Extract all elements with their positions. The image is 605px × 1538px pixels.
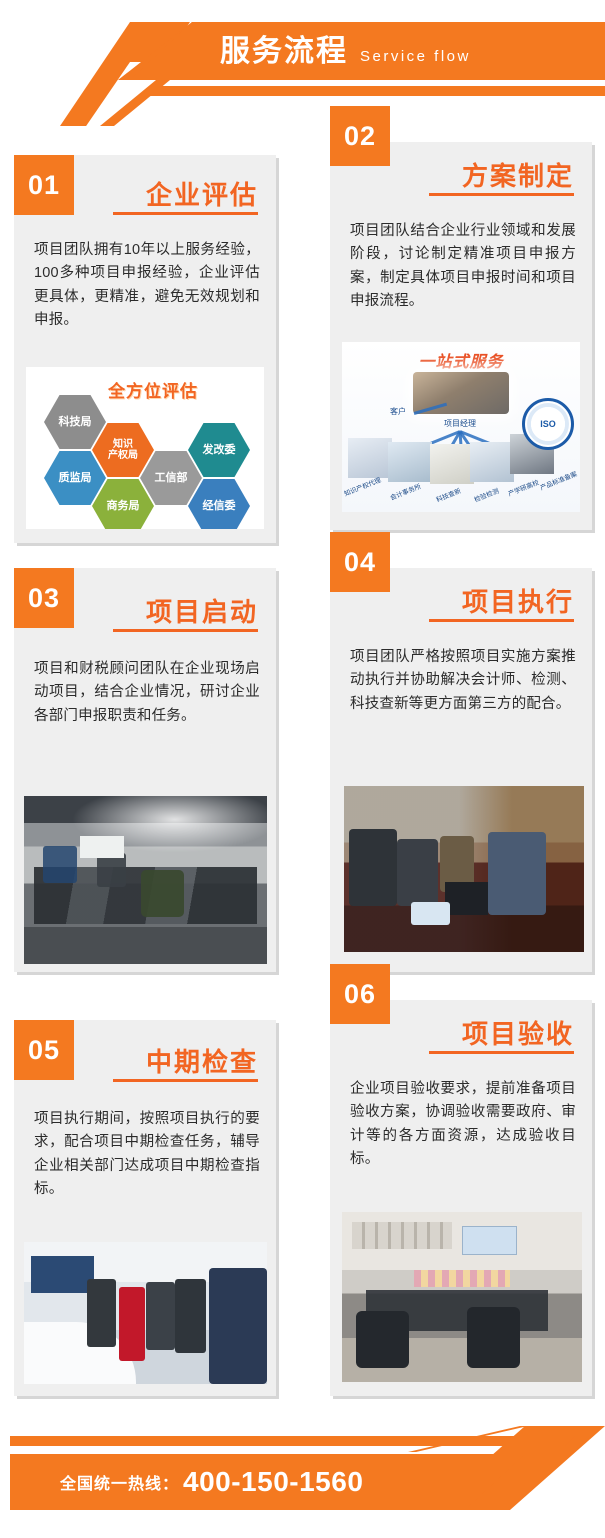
- hex-node-zhijian: 质监局: [44, 451, 106, 505]
- photo-person-red-coat-05: [119, 1287, 146, 1361]
- step-title-05: 中期检查: [146, 1042, 258, 1079]
- photo-person-03a: [43, 846, 77, 883]
- photo-chair-06b: [467, 1307, 520, 1368]
- photo-bag-04: [411, 902, 449, 925]
- step-card-03[interactable]: 项目启动 项目和财税顾问团队在企业现场启动项目，结合企业情况，研讨企业各部门申报…: [14, 568, 276, 972]
- photo-wall-screen-05: [31, 1256, 94, 1293]
- one-stop-thumb-2: [388, 442, 432, 482]
- step-body-06: 企业项目验收要求，提前准备项目验收方案，协调验收需要政府、审计等的各方面资源，达…: [350, 1078, 576, 1172]
- step-badge-06: 06: [330, 964, 390, 1024]
- header-stripe: [141, 86, 605, 96]
- one-stop-thumb-4: [470, 442, 514, 482]
- hotline-group: 全国统一热线： 400-150-1560: [60, 1454, 363, 1510]
- step-card-04[interactable]: 项目执行 项目团队严格按照项目实施方案推动执行并协助解决会计师、检测、科技查新等…: [330, 568, 592, 972]
- one-stop-label-customer: 客户: [390, 406, 406, 417]
- photo-chair-06a: [356, 1311, 409, 1369]
- page-title: 服务流程: [220, 30, 348, 74]
- figure-photo-03: [24, 796, 267, 964]
- photo-flowers-06: [414, 1270, 510, 1287]
- step-card-01[interactable]: 企业评估 项目团队拥有10年以上服务经验，100多种项目申报经验，企业评估更具体…: [14, 155, 276, 543]
- one-stop-thumb-1: [348, 438, 392, 478]
- step-title-rule-02: [429, 193, 574, 196]
- photo-person-04d: [488, 832, 546, 915]
- photo-certificates-wall-06: [352, 1222, 453, 1249]
- photo-person-05d: [209, 1268, 267, 1384]
- step-title-rule-01: [113, 212, 258, 215]
- photo-person-04a: [349, 829, 397, 905]
- photo-person-05b: [146, 1282, 175, 1350]
- photo-whiteboard-03: [80, 836, 124, 858]
- step-card-05[interactable]: 中期检查 项目执行期间，按照项目执行的要求，配合项目中期检查任务，辅导企业相关部…: [14, 1020, 276, 1396]
- figure-photo-05: [24, 1242, 267, 1384]
- one-stop-label-manager: 项目经理: [444, 418, 476, 429]
- hex-node-keji: 科技局: [44, 395, 106, 449]
- hex-node-jingxin: 经信委: [188, 479, 250, 529]
- one-stop-caption-3: 科技查新: [434, 485, 462, 504]
- one-stop-canvas: 一站式服务 客户 项目经理 知识产权代理 会计事务所 科技查新 检验检测 产学研…: [342, 342, 580, 512]
- step-body-04: 项目团队严格按照项目实施方案推动执行并协助解决会计师、检测、科技查新等更方面第三…: [350, 646, 576, 716]
- step-title-rule-05: [113, 1079, 258, 1082]
- figure-photo-06: [342, 1212, 582, 1382]
- step-body-05: 项目执行期间，按照项目执行的要求，配合项目中期检查任务，辅导企业相关部门达成项目…: [34, 1108, 260, 1202]
- header-title-group: 服务流程 Service flow: [220, 30, 471, 74]
- iso-seal-icon: ISO: [522, 398, 574, 450]
- photo-laptop-04: [445, 882, 488, 915]
- step-title-03: 项目启动: [146, 592, 258, 629]
- step-title-rule-03: [113, 629, 258, 632]
- hotline-number[interactable]: 400-150-1560: [183, 1466, 363, 1498]
- photo-person-03b: [97, 853, 126, 887]
- step-title-04: 项目执行: [462, 582, 574, 619]
- photo-person-03c: [141, 870, 185, 917]
- step-title-02: 方案制定: [462, 156, 574, 193]
- step-body-02: 项目团队结合企业行业领域和发展阶段，讨论制定精准项目申报方案，制定具体项目申报时…: [350, 220, 576, 314]
- step-card-02[interactable]: 方案制定 项目团队结合企业行业领域和发展阶段，讨论制定精准项目申报方案，制定具体…: [330, 142, 592, 530]
- footer-stripe: [10, 1436, 605, 1446]
- step-badge-01: 01: [14, 155, 74, 215]
- step-badge-05: 05: [14, 1020, 74, 1080]
- one-stop-title: 一站式服务: [418, 348, 503, 372]
- hex-node-gongxin: 工信部: [140, 451, 202, 505]
- figure-one-stop-service-02: 一站式服务 客户 项目经理 知识产权代理 会计事务所 科技查新 检验检测 产学研…: [342, 342, 580, 512]
- page-header: 服务流程 Service flow: [0, 0, 605, 112]
- one-stop-caption-4: 检验检测: [472, 485, 500, 504]
- step-badge-02: 02: [330, 106, 390, 166]
- figure-photo-04: [344, 786, 584, 952]
- hex-diagram-title: 全方位评估: [108, 377, 198, 402]
- step-title-06: 项目验收: [462, 1014, 574, 1051]
- page-footer: 全国统一热线： 400-150-1560: [0, 1420, 605, 1538]
- hex-node-fagai: 发改委: [188, 423, 250, 477]
- hex-node-shangwu: 商务局: [92, 479, 154, 529]
- one-stop-thumb-3: [430, 444, 474, 484]
- step-badge-04: 04: [330, 532, 390, 592]
- photo-projector-screen-06: [462, 1226, 517, 1255]
- step-body-01: 项目团队拥有10年以上服务经验，100多种项目申报经验，企业评估更具体，更精准，…: [34, 239, 260, 333]
- photo-person-04b: [397, 839, 438, 905]
- photo-person-05c: [175, 1279, 207, 1353]
- step-body-03: 项目和财税顾问团队在企业现场启动项目，结合企业情况，研讨企业各部门申报职责和任务…: [34, 658, 260, 728]
- step-card-06[interactable]: 项目验收 企业项目验收要求，提前准备项目验收方案，协调验收需要政府、审计等的各方…: [330, 1000, 592, 1396]
- step-title-rule-06: [429, 1051, 574, 1054]
- photo-person-05a: [87, 1279, 116, 1347]
- page-subtitle: Service flow: [360, 35, 471, 79]
- hex-node-zhishi: 知识产权局: [92, 423, 154, 477]
- step-title-01: 企业评估: [146, 175, 258, 212]
- figure-hex-diagram-01: 全方位评估 科技局 知识产权局 质监局 工信部 商务局 发改委 经信委: [26, 367, 264, 529]
- hotline-label: 全国统一热线：: [60, 1470, 179, 1494]
- step-title-rule-04: [429, 619, 574, 622]
- one-stop-caption-2: 会计事务所: [388, 481, 422, 502]
- step-badge-03: 03: [14, 568, 74, 628]
